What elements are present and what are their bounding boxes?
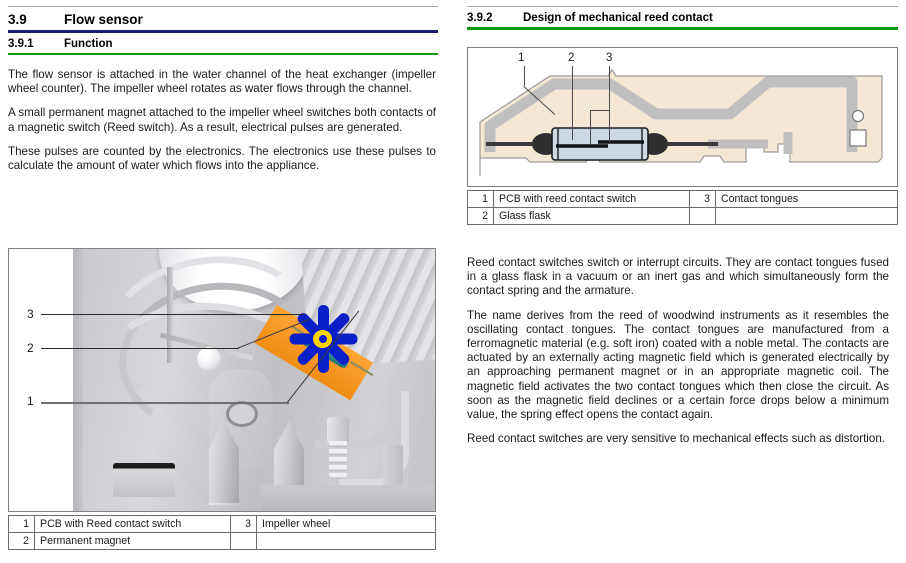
legend-label: Permanent magnet xyxy=(35,533,231,550)
legend-table-left: 1 PCB with Reed contact switch 3 Impelle… xyxy=(8,515,436,550)
diagram-canvas: 1 2 3 xyxy=(468,48,897,186)
diagram-callout-number-1: 1 xyxy=(518,52,524,64)
legend-label: PCB with Reed contact switch xyxy=(35,516,231,533)
subsection-title: Design of mechanical reed contact xyxy=(523,12,713,24)
section-number: 3.9 xyxy=(8,12,64,27)
subsection-rule xyxy=(8,53,438,56)
diagram-callout-number-2: 2 xyxy=(568,52,574,64)
right-body-text: Reed contact switches switch or interrup… xyxy=(467,256,891,446)
legend-number: 1 xyxy=(468,191,494,208)
legend-label xyxy=(257,533,436,550)
callout-number-1: 1 xyxy=(27,394,34,408)
legend-label: Contact tongues xyxy=(716,191,898,208)
legend-label xyxy=(716,208,898,225)
paragraph: A small permanent magnet attached to the… xyxy=(8,106,436,134)
paragraph: The flow sensor is attached in the water… xyxy=(8,68,436,96)
diagram-leader-3 xyxy=(609,66,610,142)
diagram-leader-3b-horizontal xyxy=(590,110,610,111)
diagram-leader-3b-vertical xyxy=(590,110,591,144)
legend-label: PCB with reed contact switch xyxy=(494,191,690,208)
subsection-heading-design: 3.9.2 Design of mechanical reed contact xyxy=(467,7,898,27)
subsection-title: Function xyxy=(64,38,113,50)
table-row: 2 Glass flask xyxy=(468,208,898,225)
legend-number: 1 xyxy=(9,516,35,533)
document-page: 3.9 Flow sensor 3.9.1 Function The flow … xyxy=(0,0,906,563)
magnet-bore xyxy=(319,335,327,343)
spherical-boss xyxy=(197,347,221,371)
subsection-number: 3.9.1 xyxy=(8,38,64,50)
right-column: 3.9.2 Design of mechanical reed contact xyxy=(467,0,898,563)
diagram-callout-number-3: 3 xyxy=(606,52,612,64)
legend-number xyxy=(690,208,716,225)
legend-number: 2 xyxy=(468,208,494,225)
figure-reed-contact-diagram: 1 2 3 xyxy=(467,47,898,187)
legend-label: Impeller wheel xyxy=(257,516,436,533)
callout-leader-3 xyxy=(41,314,305,315)
hose-nipple-ribbed xyxy=(329,441,347,479)
photo-canvas: 3 2 1 xyxy=(9,249,435,511)
section-title: Flow sensor xyxy=(64,12,143,27)
subsection-number: 3.9.2 xyxy=(467,12,523,24)
rectangular-slot xyxy=(113,463,175,497)
left-column: 3.9 Flow sensor 3.9.1 Function The flow … xyxy=(8,0,438,563)
body-edge-strip xyxy=(73,249,83,511)
diagram-leader-1-vertical xyxy=(524,66,525,86)
callout-number-3: 3 xyxy=(27,307,34,321)
callout-leader-1 xyxy=(41,402,289,404)
legend-number: 2 xyxy=(9,533,35,550)
subsection-heading-function: 3.9.1 Function xyxy=(8,33,438,53)
diagram-leader-2 xyxy=(572,66,573,140)
paragraph: Reed contact switches are very sensitive… xyxy=(467,432,889,446)
legend-number: 3 xyxy=(690,191,716,208)
legend-number: 3 xyxy=(231,516,257,533)
legend-label: Glass flask xyxy=(494,208,690,225)
table-row: 2 Permanent magnet xyxy=(9,533,436,550)
hose-nipple-neck xyxy=(327,417,349,443)
legend-number xyxy=(231,533,257,550)
table-row: 1 PCB with reed contact switch 3 Contact… xyxy=(468,191,898,208)
callout-number-2: 2 xyxy=(27,341,34,355)
legend-table-right: 1 PCB with reed contact switch 3 Contact… xyxy=(467,190,898,225)
left-body-text: The flow sensor is attached in the water… xyxy=(8,68,438,173)
bracket-ring-hole xyxy=(226,401,258,427)
paragraph: The name derives from the reed of woodwi… xyxy=(467,309,889,423)
subsection-rule xyxy=(467,27,898,30)
paragraph: These pulses are counted by the electron… xyxy=(8,145,436,173)
callout-leader-2 xyxy=(41,348,239,349)
table-row: 1 PCB with Reed contact switch 3 Impelle… xyxy=(9,516,436,533)
lower-right-flange xyxy=(261,485,435,511)
figure-flow-sensor-photo: 3 2 1 xyxy=(8,248,436,512)
paragraph: Reed contact switches switch or interrup… xyxy=(467,256,889,299)
section-heading: 3.9 Flow sensor xyxy=(8,7,438,30)
reed-contact-svg xyxy=(468,48,897,186)
